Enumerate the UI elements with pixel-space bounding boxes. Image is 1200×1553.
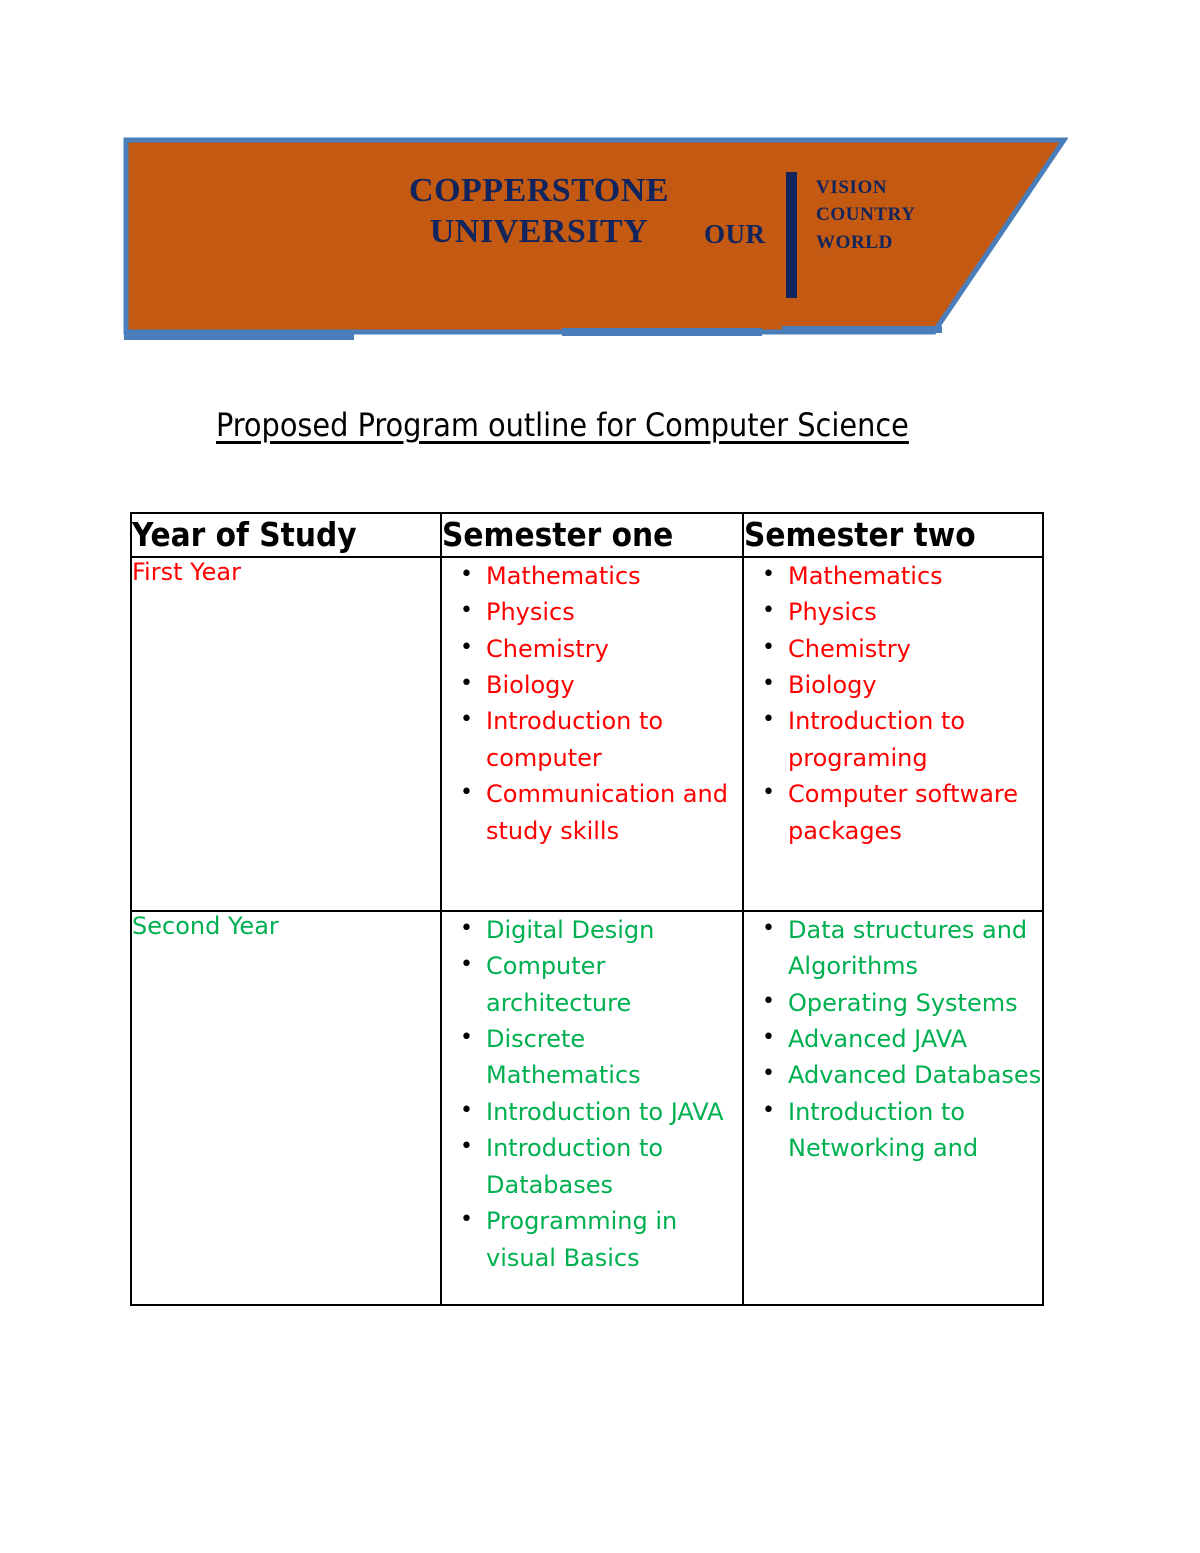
list-item: Programming in visual Basics xyxy=(486,1203,742,1276)
course-list: Mathematics Physics Chemistry Biology In… xyxy=(442,558,742,850)
column-header-semester-two: Semester two xyxy=(743,513,1043,557)
list-item: Introduction to programing xyxy=(788,703,1042,776)
column-header-year-of-study: Year of Study xyxy=(131,513,441,557)
list-item: Digital Design xyxy=(486,912,742,948)
university-header-banner: COPPERSTONE UNIVERSITY OUR VISION COUNTR… xyxy=(122,136,1068,344)
list-item: Mathematics xyxy=(486,558,742,594)
banner-polygon xyxy=(126,140,1064,332)
course-list: Data structures and Algorithms Operating… xyxy=(744,912,1042,1167)
second-year-semester-two-cell: Data structures and Algorithms Operating… xyxy=(743,911,1043,1305)
table-row: Second Year Digital Design Computer arch… xyxy=(131,911,1043,1305)
list-item: Advanced Databases xyxy=(788,1057,1042,1093)
list-item: Mathematics xyxy=(788,558,1042,594)
banner-shadow-left xyxy=(124,332,354,340)
list-item: Introduction to computer xyxy=(486,703,742,776)
list-item: Communication and study skills xyxy=(486,776,742,849)
list-item: Discrete Mathematics xyxy=(486,1021,742,1094)
list-item: Advanced JAVA xyxy=(788,1021,1042,1057)
list-item: Chemistry xyxy=(788,631,1042,667)
list-item: Introduction to JAVA xyxy=(486,1094,742,1130)
course-list: Digital Design Computer architecture Dis… xyxy=(442,912,742,1277)
first-year-semester-one-cell: Mathematics Physics Chemistry Biology In… xyxy=(441,557,743,911)
banner-shadow-right xyxy=(782,326,942,333)
list-item: Computer architecture xyxy=(486,948,742,1021)
page-title: Proposed Program outline for Computer Sc… xyxy=(216,406,909,444)
list-item: Introduction to Databases xyxy=(486,1130,742,1203)
list-item: Introduction to Networking and xyxy=(788,1094,1042,1167)
list-item: Chemistry xyxy=(486,631,742,667)
second-year-semester-one-cell: Digital Design Computer architecture Dis… xyxy=(441,911,743,1305)
table-header-row: Year of Study Semester one Semester two xyxy=(131,513,1043,557)
list-item: Computer software packages xyxy=(788,776,1042,849)
table-row: First Year Mathematics Physics Chemistry… xyxy=(131,557,1043,911)
banner-shape xyxy=(122,136,1068,344)
list-item: Operating Systems xyxy=(788,985,1042,1021)
list-item: Data structures and Algorithms xyxy=(788,912,1042,985)
list-item: Biology xyxy=(788,667,1042,703)
course-list: Mathematics Physics Chemistry Biology In… xyxy=(744,558,1042,850)
column-header-semester-one: Semester one xyxy=(441,513,743,557)
list-item: Physics xyxy=(486,594,742,630)
year-label-first-year: First Year xyxy=(131,557,441,911)
banner-shadow-mid xyxy=(562,328,762,336)
first-year-semester-two-cell: Mathematics Physics Chemistry Biology In… xyxy=(743,557,1043,911)
list-item: Biology xyxy=(486,667,742,703)
list-item: Physics xyxy=(788,594,1042,630)
year-label-second-year: Second Year xyxy=(131,911,441,1305)
program-outline-table: Year of Study Semester one Semester two … xyxy=(130,512,1044,1306)
